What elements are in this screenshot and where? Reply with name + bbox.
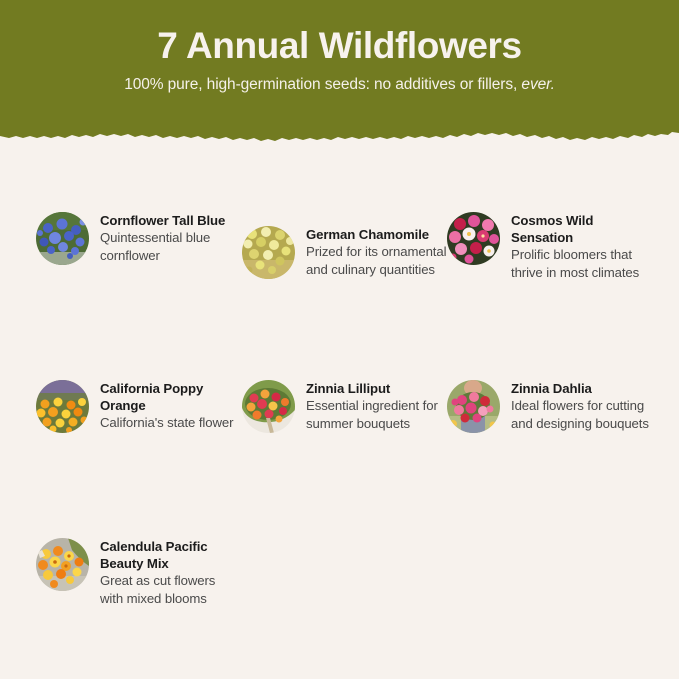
flower-name: Cosmos Wild Sensation: [511, 212, 652, 246]
page-title: 7 Annual Wildflowers: [0, 24, 679, 68]
flower-thumbnail-icon: [36, 212, 89, 265]
calendula-pacific-beauty-mix-photo: [36, 538, 89, 591]
list-item-text: Zinnia Dahlia Ideal flowers for cutting …: [511, 380, 652, 432]
list-item-text: Calendula Pacific Beauty Mix Great as cu…: [100, 538, 241, 607]
flower-row: Calendula Pacific Beauty Mix Great as cu…: [0, 442, 679, 592]
list-item-text: Cosmos Wild Sensation Prolific bloomers …: [511, 212, 652, 281]
header-band: 7 Annual Wildflowers 100% pure, high-ger…: [0, 0, 679, 142]
flower-thumbnail-icon: [242, 380, 295, 433]
flower-thumbnail-icon: [242, 226, 295, 279]
flower-row: California Poppy Orange California's sta…: [0, 292, 679, 442]
california-poppy-orange-photo: [36, 380, 89, 433]
zinnia-lilliput-photo: [242, 380, 295, 433]
cosmos-wild-sensation-photo: [447, 212, 500, 265]
list-item[interactable]: Cornflower Tall Blue Quintessential blue…: [36, 212, 241, 265]
flower-row: Cornflower Tall Blue Quintessential blue…: [0, 142, 679, 292]
list-item[interactable]: Zinnia Lilliput Essential ingredient for…: [242, 380, 447, 433]
flower-description: California's state flower: [100, 414, 241, 432]
flower-thumbnail-icon: [36, 538, 89, 591]
flower-description: Ideal flowers for cutting and designing …: [511, 397, 652, 432]
list-item[interactable]: Calendula Pacific Beauty Mix Great as cu…: [36, 538, 241, 607]
flower-name: German Chamomile: [306, 226, 447, 243]
page-subtitle: 100% pure, high-germination seeds: no ad…: [0, 75, 679, 95]
list-item-text: California Poppy Orange California's sta…: [100, 380, 241, 432]
flower-description: Great as cut flowers with mixed blooms: [100, 572, 241, 607]
flower-name: Zinnia Dahlia: [511, 380, 652, 397]
flower-name: Cornflower Tall Blue: [100, 212, 241, 229]
list-item[interactable]: German Chamomile Prized for its ornament…: [242, 226, 447, 279]
flower-description: Prolific bloomers that thrive in most cl…: [511, 246, 652, 281]
flower-description: Quintessential blue cornflower: [100, 229, 241, 264]
zinnia-dahlia-photo: [447, 380, 500, 433]
list-item[interactable]: Zinnia Dahlia Ideal flowers for cutting …: [447, 380, 652, 433]
flower-description: Prized for its ornamental and culinary q…: [306, 243, 447, 278]
flower-name: Zinnia Lilliput: [306, 380, 447, 397]
flower-description: Essential ingredient for summer bouquets: [306, 397, 447, 432]
page-subtitle-emphasis: ever.: [521, 76, 554, 93]
flower-thumbnail-icon: [36, 380, 89, 433]
list-item-text: German Chamomile Prized for its ornament…: [306, 226, 447, 278]
list-item[interactable]: California Poppy Orange California's sta…: [36, 380, 241, 433]
header-text-block: 7 Annual Wildflowers 100% pure, high-ger…: [0, 0, 679, 132]
flower-list: Cornflower Tall Blue Quintessential blue…: [0, 142, 679, 592]
flower-thumbnail-icon: [447, 380, 500, 433]
list-item-text: Zinnia Lilliput Essential ingredient for…: [306, 380, 447, 432]
page-subtitle-main: 100% pure, high-germination seeds: no ad…: [124, 76, 521, 93]
flower-thumbnail-icon: [447, 212, 500, 265]
flower-name: California Poppy Orange: [100, 380, 241, 414]
list-item-text: Cornflower Tall Blue Quintessential blue…: [100, 212, 241, 264]
list-item[interactable]: Cosmos Wild Sensation Prolific bloomers …: [447, 212, 652, 281]
german-chamomile-photo: [242, 226, 295, 279]
cornflower-tall-blue-photo: [36, 212, 89, 265]
flower-name: Calendula Pacific Beauty Mix: [100, 538, 241, 572]
